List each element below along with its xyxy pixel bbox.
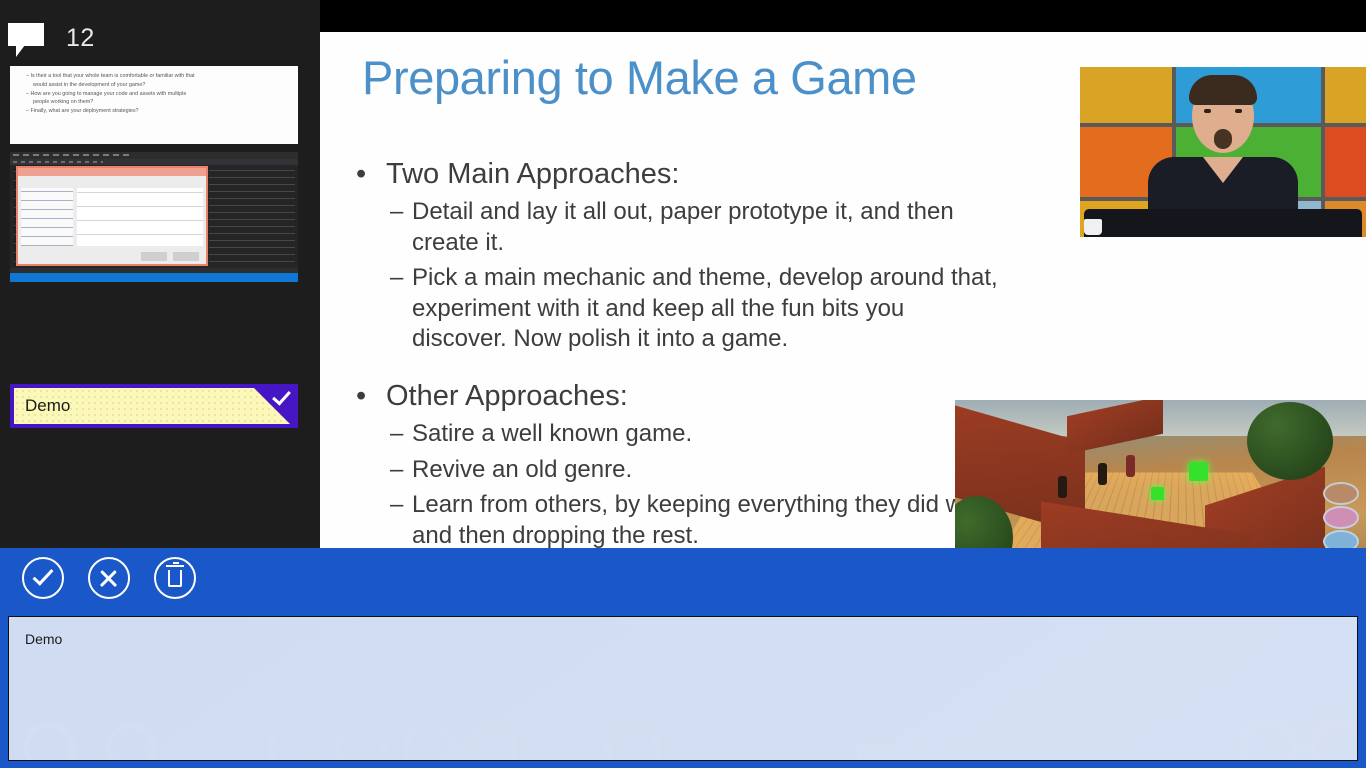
bullet-marker: – (390, 263, 412, 354)
bullet-item: • Other Approaches: (356, 379, 1004, 414)
vs-menu-bar (10, 152, 298, 159)
game-character (1126, 455, 1135, 477)
game-character (1058, 476, 1067, 498)
thumbnail-line: – Is their a tool that your whole team i… (26, 72, 286, 81)
game-portrait-stack (1323, 482, 1363, 548)
comment-header: 12 (8, 16, 95, 60)
bullet-text: Other Approaches: (386, 379, 628, 414)
accept-button[interactable] (22, 557, 64, 599)
ghost-icon (403, 722, 455, 761)
game-character (1098, 463, 1107, 485)
ghost-icon (1241, 720, 1297, 761)
bullet-text: Detail and lay it all out, paper prototy… (412, 197, 1004, 258)
ghost-icon (605, 722, 661, 761)
ghost-icon (267, 722, 319, 761)
bullet-item: – Pick a main mechanic and theme, develo… (356, 263, 1004, 354)
bullet-item: – Revive an old genre. (356, 455, 1004, 485)
delete-button[interactable] (154, 557, 196, 599)
bullet-marker: • (356, 157, 386, 192)
slide-thumbnail-demo[interactable]: Demo (10, 384, 298, 428)
thumbnail-line: – How are you going to manage your code … (26, 90, 286, 99)
bullet-text: Learn from others, by keeping everything… (412, 490, 1004, 548)
page-title: Preparing to Make a Game (362, 50, 917, 105)
current-slide: Preparing to Make a Game • Two Main Appr… (320, 32, 1366, 548)
thumbnail-line: would assist in the development of your … (26, 81, 286, 90)
bullet-text: Revive an old genre. (412, 455, 1004, 485)
presenter-video[interactable] (1080, 67, 1366, 237)
bullet-marker: – (390, 490, 412, 548)
comment-count: 12 (66, 24, 95, 53)
file-open-dialog (16, 166, 208, 266)
game-screenshot (955, 400, 1366, 548)
bullet-marker: – (390, 419, 412, 449)
coffee-cup (1084, 219, 1102, 235)
bullet-marker: • (356, 379, 386, 414)
bullet-text: Pick a main mechanic and theme, develop … (412, 263, 1004, 354)
slide-thumbnail-questions[interactable]: – Is their a tool that your whole team i… (10, 66, 298, 144)
bullet-item: – Learn from others, by keeping everythi… (356, 490, 1004, 548)
comment-bubble-icon (8, 23, 44, 53)
presenter-desk (1084, 209, 1362, 237)
ghost-icon (1311, 720, 1358, 761)
game-pickup (1151, 487, 1164, 500)
ghost-icon (465, 722, 517, 761)
vs-status-bar (10, 273, 298, 282)
note-input[interactable]: dulo 27 Demo (8, 616, 1358, 761)
ghost-text: dulo 27 (857, 733, 990, 761)
slide-bullet-list: • Two Main Approaches: – Detail and lay … (356, 155, 1004, 548)
check-icon (33, 564, 54, 585)
presentation-annotation-app: 12 – Is their a tool that your whole tea… (0, 0, 1366, 768)
vs-toolbar (10, 159, 298, 165)
ghost-icon (335, 722, 387, 761)
thumbnail-list[interactable]: – Is their a tool that your whole team i… (0, 62, 320, 548)
note-text-value: Demo (25, 631, 62, 647)
presenter-figure (1192, 79, 1254, 153)
ghost-icon (105, 722, 157, 761)
cancel-button[interactable] (88, 557, 130, 599)
note-editor-area: dulo 27 Demo (0, 608, 1366, 768)
bullet-text: Satire a well known game. (412, 419, 1004, 449)
thumbnail-line: – Finally, what are your deployment stra… (26, 107, 286, 116)
annotation-command-bar (0, 548, 1366, 608)
bullet-item: – Detail and lay it all out, paper proto… (356, 197, 1004, 258)
bullet-marker: – (390, 455, 412, 485)
game-pickup (1189, 462, 1208, 481)
vs-solution-explorer (209, 168, 295, 266)
slide-viewer[interactable]: Preparing to Make a Game • Two Main Appr… (320, 0, 1366, 548)
slide-thumbnail-rail: 12 – Is their a tool that your whole tea… (0, 0, 320, 548)
thumbnail-line: people working on them? (26, 98, 286, 107)
bullet-item: • Two Main Approaches: (356, 157, 1004, 192)
trash-icon (168, 570, 182, 587)
ghost-icon (23, 722, 75, 761)
bullet-marker: – (390, 197, 412, 258)
game-tree (1247, 402, 1333, 480)
slide-thumbnail-vs-file-dialog[interactable] (10, 152, 298, 282)
bullet-text: Two Main Approaches: (386, 157, 679, 192)
bullet-item: – Satire a well known game. (356, 419, 1004, 449)
demo-slide-title: Demo (25, 396, 70, 416)
